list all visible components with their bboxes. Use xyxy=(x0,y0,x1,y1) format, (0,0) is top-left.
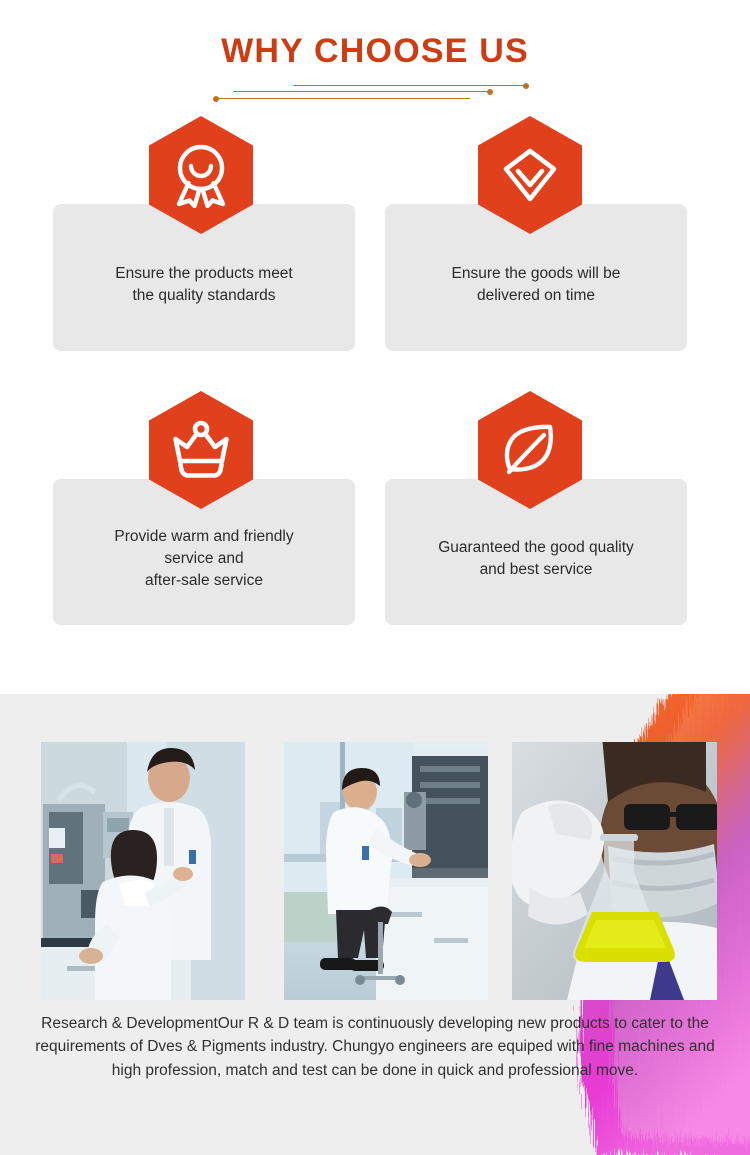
showcase-photo-1 xyxy=(41,742,245,1000)
divider-dot-3 xyxy=(213,96,219,102)
feature-row-1: Ensure the products meet the quality sta… xyxy=(0,116,750,391)
divider-dot-2 xyxy=(487,89,493,95)
photo-gallery xyxy=(0,694,750,1014)
title-divider xyxy=(205,80,545,106)
page-title: WHY CHOOSE US xyxy=(0,34,750,68)
feature-row-2: Provide warm and friendly service and af… xyxy=(0,391,750,666)
divider-line-3 xyxy=(218,98,470,99)
header-section: WHY CHOOSE US xyxy=(0,0,750,106)
feature-card-1-text: Ensure the products meet the quality sta… xyxy=(101,263,307,307)
showcase-section: Research & DevelopmentOur R & D team is … xyxy=(0,694,750,1155)
feature-card-2-text: Ensure the goods will be delivered on ti… xyxy=(438,263,635,307)
feature-card-3-text: Provide warm and friendly service and af… xyxy=(100,526,307,592)
divider-dot-1 xyxy=(523,83,529,89)
showcase-paragraph: Research & DevelopmentOur R & D team is … xyxy=(0,1012,750,1082)
divider-line-2 xyxy=(233,91,491,92)
showcase-photo-2 xyxy=(284,742,488,1000)
feature-card-4-text: Guaranteed the good quality and best ser… xyxy=(424,537,648,581)
features-section: Ensure the products meet the quality sta… xyxy=(0,106,750,666)
divider-line-1 xyxy=(293,85,527,86)
showcase-photo-3 xyxy=(512,742,717,1000)
